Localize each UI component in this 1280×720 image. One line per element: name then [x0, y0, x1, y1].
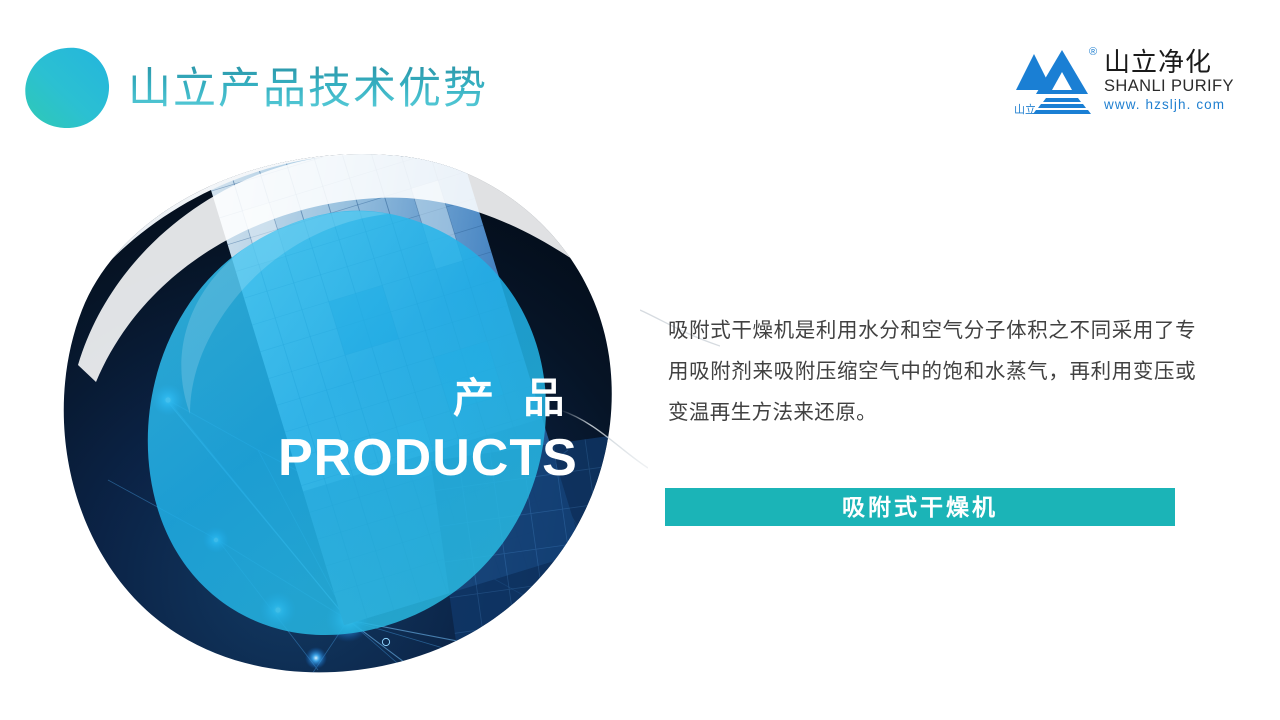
logo-website[interactable]: www. hzsljh. com	[1104, 96, 1244, 113]
slide-header: 山立产品技术优势 ® 山立 山立净	[0, 0, 1280, 150]
company-logo[interactable]: ® 山立 山立净化 SHANLI PURIFY www. hzsljh. com	[1012, 44, 1244, 120]
logo-company-name-cn: 山立净化	[1104, 47, 1244, 77]
page-title: 山立产品技术优势	[128, 62, 488, 116]
logo-text-block: 山立净化 SHANLI PURIFY www. hzsljh. com	[1104, 47, 1244, 113]
product-label-en: PRODUCTS	[278, 429, 578, 487]
product-name-banner-label: 吸附式干燥机	[842, 494, 998, 520]
product-name-banner[interactable]: 吸附式干燥机	[665, 488, 1175, 526]
slide-root: 山立产品技术优势 ® 山立 山立净	[0, 0, 1280, 720]
registered-mark-icon: ®	[1089, 47, 1097, 58]
product-label-cn: 产 品	[453, 375, 573, 421]
blob-icon	[24, 47, 110, 129]
logo-mark-caption: 山立	[1014, 104, 1036, 116]
product-graphic: 产 品 PRODUCTS	[48, 150, 648, 695]
logo-company-name-en: SHANLI PURIFY	[1104, 77, 1244, 96]
product-description: 吸附式干燥机是利用水分和空气分子体积之不同采用了专用吸附剂来吸附压缩空气中的饱和…	[668, 310, 1196, 433]
